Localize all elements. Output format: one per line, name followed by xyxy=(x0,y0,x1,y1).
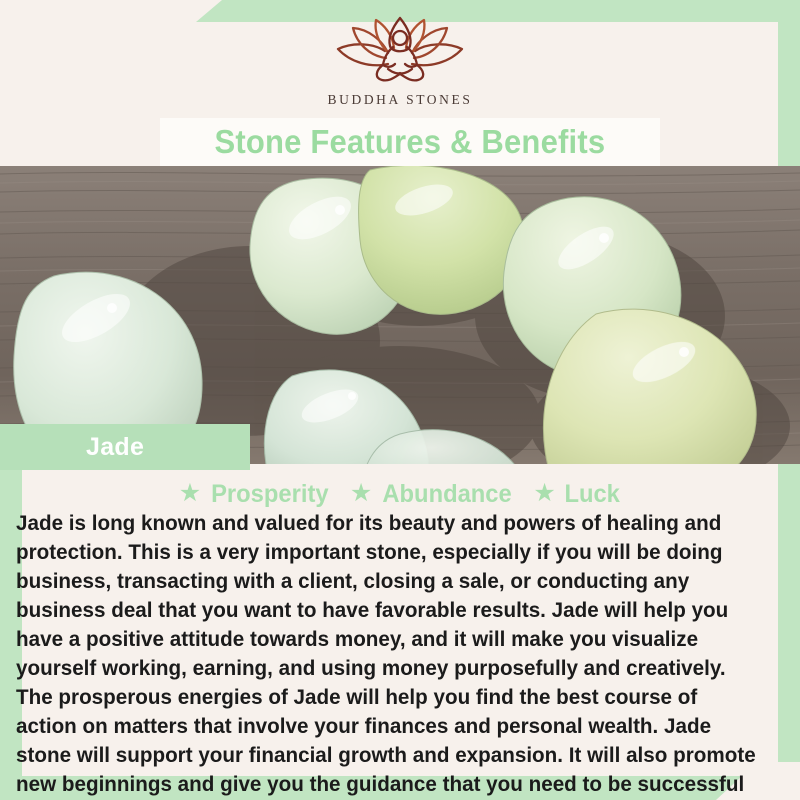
stone-name: Jade xyxy=(86,433,144,462)
page-title: Stone Features & Benefits xyxy=(215,123,606,161)
stone-photo xyxy=(0,166,800,464)
star-icon: ★ xyxy=(533,481,555,506)
keyword-label: Abundance xyxy=(383,480,512,509)
keyword-label: Prosperity xyxy=(211,480,328,509)
description-text: Jade is long known and valued for its be… xyxy=(16,509,757,800)
lotus-meditation-icon xyxy=(326,16,474,87)
infographic-card: BUDDHA STONES Stone Features & Benefits xyxy=(0,0,800,800)
keyword-item-luck: ★ Luck xyxy=(533,480,621,509)
keyword-list: ★ Prosperity ★ Abundance ★ Luck xyxy=(0,478,800,510)
keyword-item-abundance: ★ Abundance xyxy=(350,480,516,509)
star-icon: ★ xyxy=(179,481,201,506)
stone-name-banner: Jade xyxy=(0,424,250,470)
stone-photo-illustration xyxy=(0,166,800,464)
star-icon: ★ xyxy=(350,481,372,506)
keyword-label: Luck xyxy=(564,480,619,509)
brand-name: BUDDHA STONES xyxy=(328,92,473,108)
title-banner: Stone Features & Benefits xyxy=(160,118,660,166)
keyword-item-prosperity: ★ Prosperity xyxy=(179,480,332,509)
brand-header: BUDDHA STONES xyxy=(0,0,800,118)
